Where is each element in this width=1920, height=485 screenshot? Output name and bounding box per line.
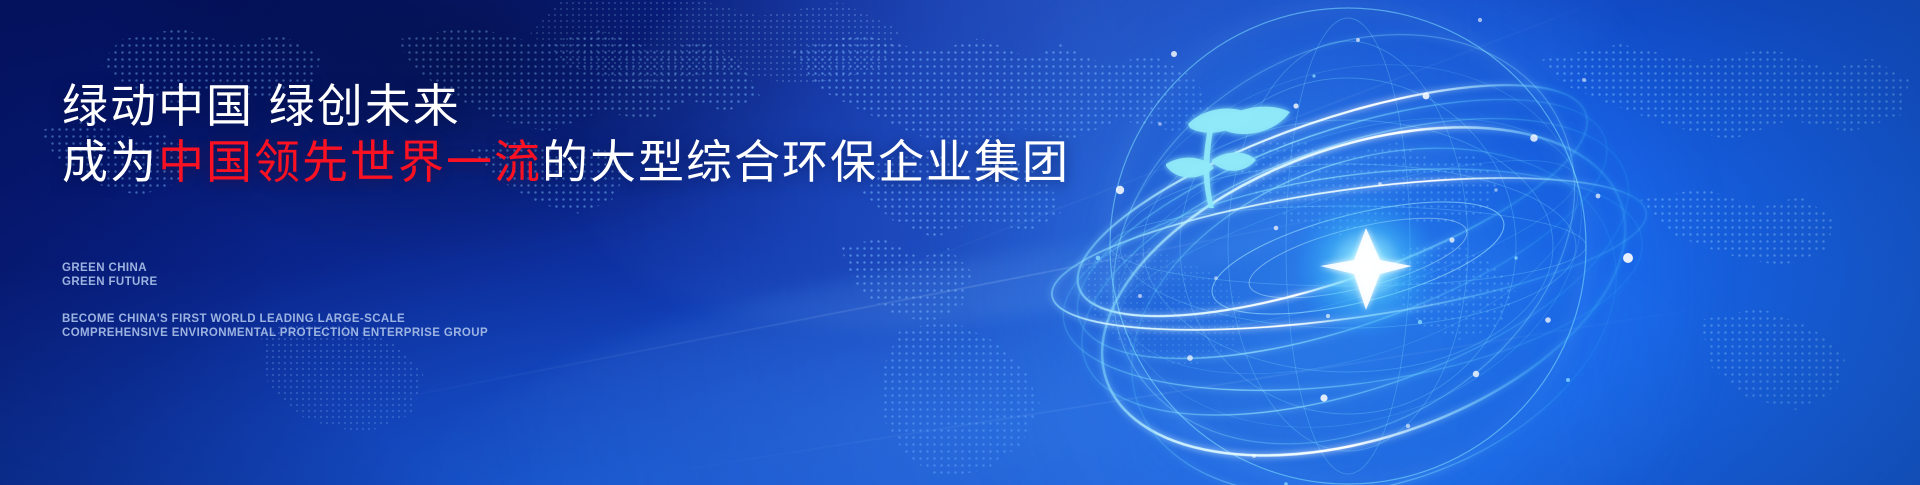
english-subtitle-line-2: COMPREHENSIVE ENVIRONMENTAL PROTECTION E… — [62, 326, 488, 340]
english-tagline-line-2: GREEN FUTURE — [62, 275, 158, 289]
headline-prefix: 成为 — [62, 136, 158, 188]
headline-suffix: 的大型综合环保企业集团 — [542, 136, 1070, 188]
english-tagline-line-1: GREEN CHINA — [62, 261, 158, 275]
english-tagline: GREEN CHINA GREEN FUTURE — [62, 261, 158, 289]
headline-highlight: 中国领先世界一流 — [158, 136, 542, 188]
copy-block: 绿动中国 绿创未来 成为中国领先世界一流的大型综合环保企业集团 — [62, 0, 1062, 485]
hero-banner: 绿动中国 绿创未来 成为中国领先世界一流的大型综合环保企业集团 GREEN CH… — [0, 0, 1920, 485]
headline-line-2: 成为中国领先世界一流的大型综合环保企业集团 — [62, 139, 1070, 185]
english-subtitle: BECOME CHINA'S FIRST WORLD LEADING LARGE… — [62, 312, 488, 340]
globe-particles — [1028, 0, 1668, 485]
headline-line-1: 绿动中国 绿创未来 — [62, 83, 461, 129]
wireframe-globe — [1028, 0, 1668, 485]
english-subtitle-line-1: BECOME CHINA'S FIRST WORLD LEADING LARGE… — [62, 312, 488, 326]
